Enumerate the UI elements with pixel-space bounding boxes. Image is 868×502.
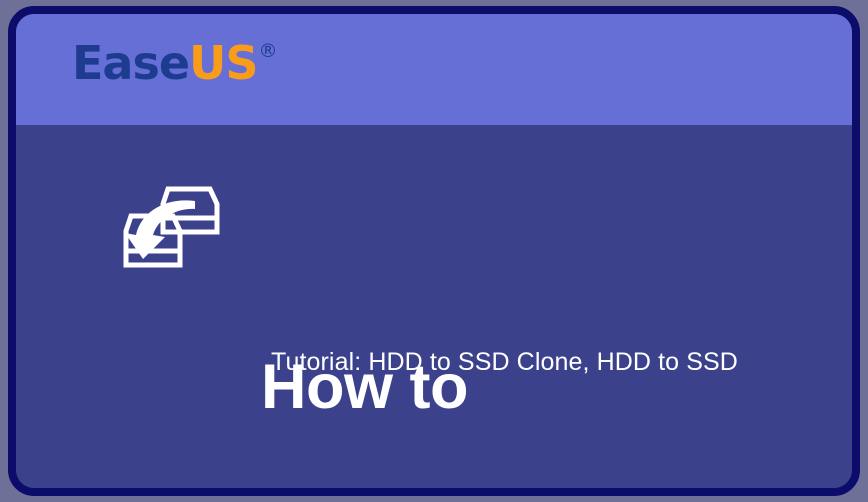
screenshot-stage: EaseUS® [0,0,868,502]
card-header-band: EaseUS® [16,14,852,125]
registered-trademark-icon: ® [259,40,277,62]
easeus-logo[interactable]: EaseUS® [72,40,276,86]
page-subtitle: Tutorial: HDD to SSD Clone, HDD to SSD [271,347,738,377]
clone-disk-icon-graphic [111,175,227,285]
logo-text-us: US [189,36,257,90]
card-body: How to Clone HDD to SSD Tutorial: HDD to… [16,125,852,488]
tutorial-card: EaseUS® [8,6,860,496]
logo-text-ease: Ease [72,36,189,90]
clone-disk-icon [111,175,227,285]
